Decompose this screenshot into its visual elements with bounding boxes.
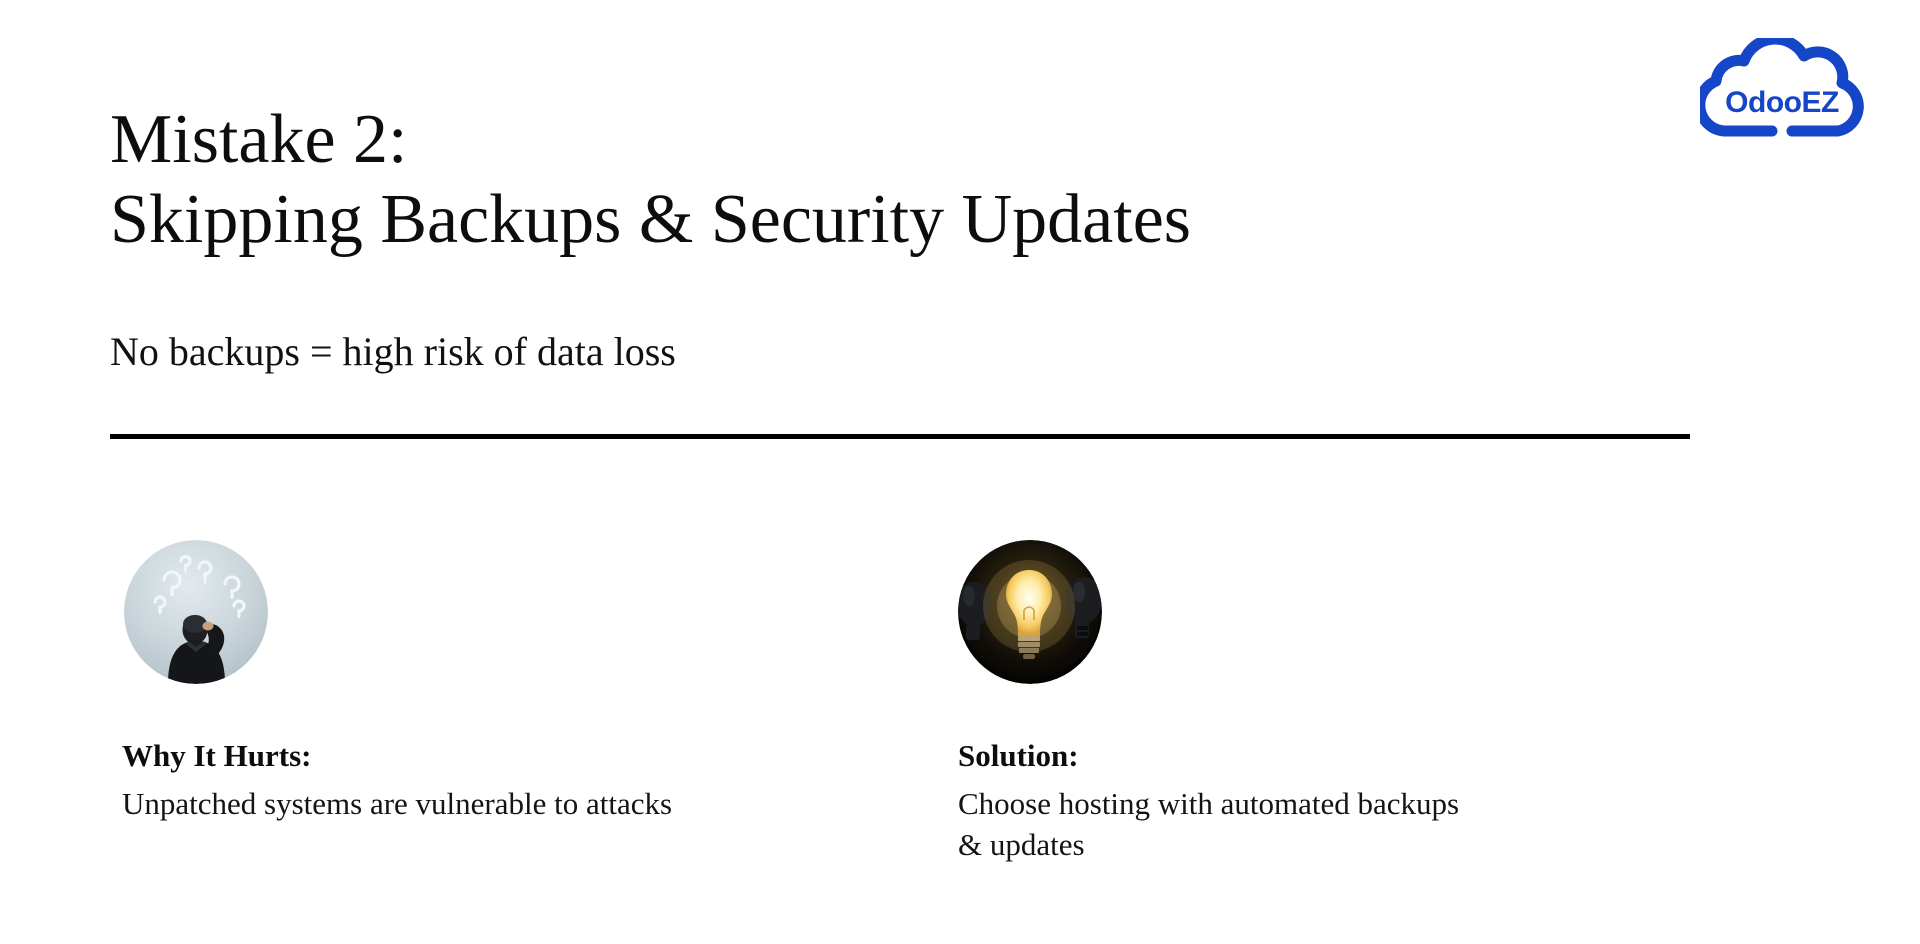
odooez-cloud-icon: OdooEZ (1700, 38, 1865, 138)
column-body-why-it-hurts: Unpatched systems are vulnerable to atta… (122, 783, 722, 824)
column-heading-why-it-hurts: Why It Hurts: (122, 736, 842, 776)
glowing-lightbulb-photo (958, 540, 1102, 684)
confused-man-illustration (124, 540, 268, 684)
title-line-2: Skipping Backups & Security Updates (110, 180, 1690, 260)
confused-man-question-marks-photo (124, 540, 268, 684)
odooez-wordmark: OdooEZ (1725, 86, 1839, 119)
horizontal-divider (110, 434, 1690, 439)
column-why-it-hurts: Why It Hurts: Unpatched systems are vuln… (122, 540, 842, 824)
column-solution: Solution: Choose hosting with automated … (958, 540, 1678, 865)
odooez-logo: OdooEZ (1700, 38, 1865, 138)
page-title: Mistake 2: Skipping Backups & Security U… (110, 100, 1690, 260)
lightbulb-illustration (958, 540, 1102, 684)
content-columns: Why It Hurts: Unpatched systems are vuln… (0, 540, 1920, 880)
title-line-1: Mistake 2: (110, 100, 1690, 180)
column-heading-solution: Solution: (958, 736, 1678, 776)
page-subtitle: No backups = high risk of data loss (110, 327, 676, 377)
column-body-solution: Choose hosting with automated backups & … (958, 783, 1478, 865)
